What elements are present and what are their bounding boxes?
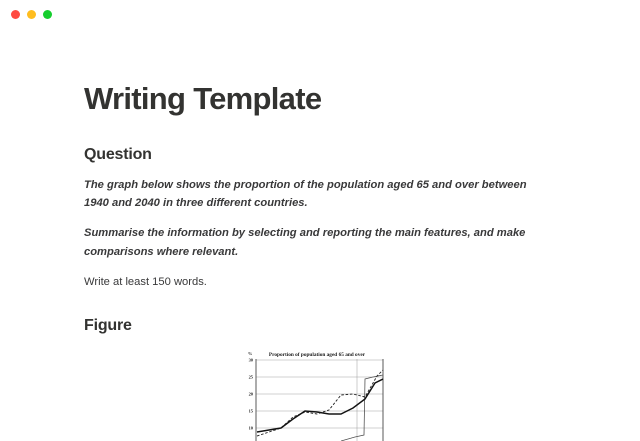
section-heading-figure: Figure (84, 317, 556, 335)
zoom-window-button[interactable] (43, 10, 52, 19)
figure-container: Proportion of population aged 65 and ove… (84, 349, 556, 441)
chart-ytick-30: 30 (249, 357, 254, 362)
line-chart: Proportion of population aged 65 and ove… (237, 349, 393, 441)
document-body: Writing Template Question The graph belo… (0, 82, 640, 441)
question-prompt-line-2: Summarise the information by selecting a… (84, 224, 544, 260)
chart-ytick-10: 10 (249, 425, 254, 430)
chart-title: Proportion of population aged 65 and ove… (269, 352, 366, 358)
chart-ytick-15: 15 (249, 408, 254, 413)
section-heading-question: Question (84, 146, 556, 164)
minimize-window-button[interactable] (27, 10, 36, 19)
chart-series-thin (341, 375, 383, 441)
chart-ytick-20: 20 (249, 391, 254, 396)
window-titlebar (0, 0, 640, 28)
traffic-light-buttons (11, 10, 52, 19)
chart-ylabel: % (248, 351, 252, 356)
chart-image-scan: Proportion of population aged 65 and ove… (237, 349, 393, 441)
close-window-button[interactable] (11, 10, 20, 19)
chart-ytick-25: 25 (249, 374, 254, 379)
page-title: Writing Template (84, 82, 556, 116)
question-word-count-note: Write at least 150 words. (84, 273, 544, 291)
question-prompt-line-1: The graph below shows the proportion of … (84, 176, 544, 212)
